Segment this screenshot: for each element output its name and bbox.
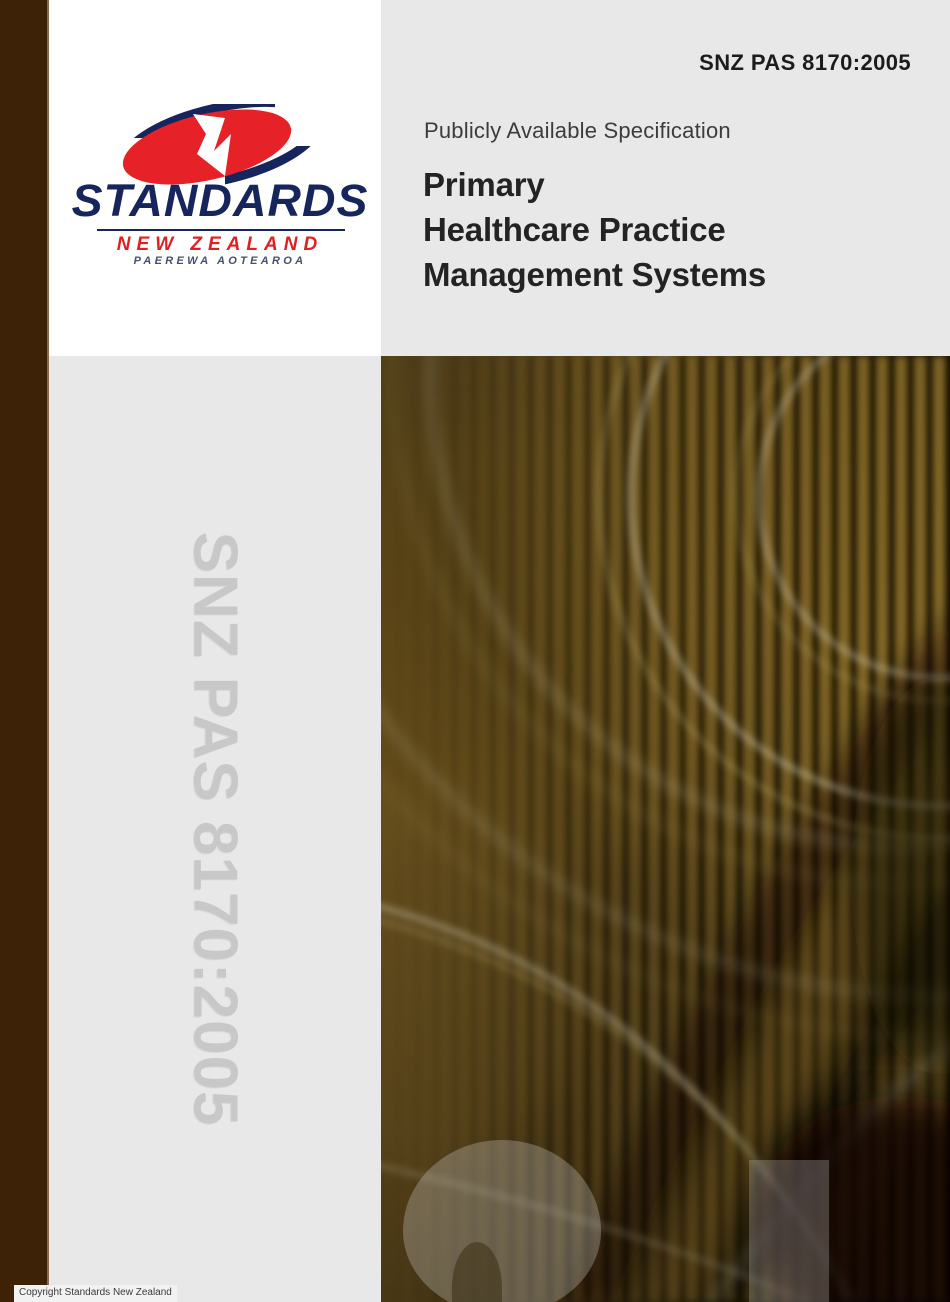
spine-panel: SNZ PAS 8170:2005	[49, 356, 381, 1302]
document-title: Primary Healthcare Practice Management S…	[423, 162, 943, 297]
document-cover: STANDARDS NEW ZEALAND PAEREWA AOTEAROA S…	[0, 0, 950, 1302]
spine-text-holder: SNZ PAS 8170:2005	[49, 356, 381, 1302]
spine-document-code: SNZ PAS 8170:2005	[180, 532, 251, 1127]
title-line-1: Primary	[423, 162, 943, 207]
spine-brown-bar	[0, 0, 47, 1302]
standards-new-zealand-logo: STANDARDS NEW ZEALAND PAEREWA AOTEAROA	[75, 104, 365, 264]
logo-panel: STANDARDS NEW ZEALAND PAEREWA AOTEAROA	[49, 0, 381, 356]
title-line-3: Management Systems	[423, 252, 943, 297]
logo-wordmark: STANDARDS	[71, 178, 370, 223]
copyright-notice: Copyright Standards New Zealand	[14, 1285, 177, 1302]
specification-kind-label: Publicly Available Specification	[424, 118, 731, 144]
swoosh-mark-icon	[75, 104, 365, 186]
logo-divider	[97, 229, 345, 231]
logo-maori-text: PAEREWA AOTEAROA	[75, 256, 365, 267]
cover-photograph	[381, 356, 950, 1302]
logo-country-text: NEW ZEALAND	[75, 235, 365, 254]
title-line-2: Healthcare Practice	[423, 207, 943, 252]
document-code: SNZ PAS 8170:2005	[699, 50, 911, 76]
